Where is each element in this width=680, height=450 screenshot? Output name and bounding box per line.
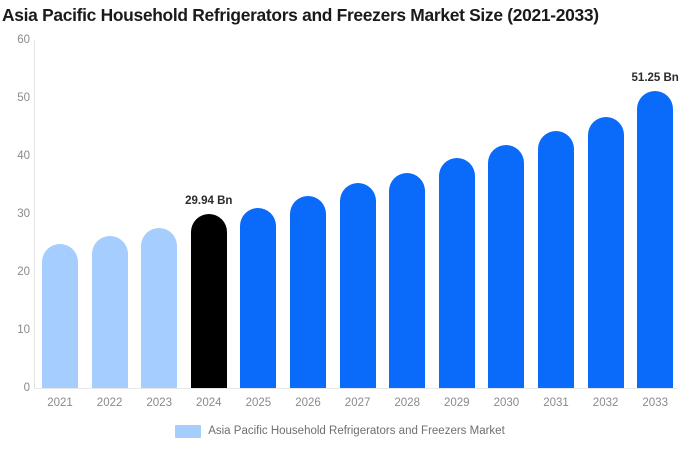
bar-2021[interactable]	[42, 244, 78, 388]
bar-2026[interactable]	[290, 196, 326, 388]
y-axis-tick-label: 0	[2, 382, 30, 394]
bar-2030[interactable]	[488, 145, 524, 388]
y-axis-tick-label: 60	[2, 34, 30, 46]
bar-slot-2031	[538, 40, 574, 388]
bar-data-label-2033: 51.25 Bn	[632, 72, 679, 85]
x-axis-line	[34, 388, 678, 389]
y-axis-tick-label: 40	[2, 150, 30, 162]
bar-slot-2027	[340, 40, 376, 388]
chart-title: Asia Pacific Household Refrigerators and…	[2, 4, 680, 26]
bar-slot-2023	[141, 40, 177, 388]
bar-slot-2025	[240, 40, 276, 388]
y-axis-tick-label: 10	[2, 324, 30, 336]
bar-slot-2029	[439, 40, 475, 388]
bar-2033[interactable]	[637, 91, 673, 388]
chart-container: Asia Pacific Household Refrigerators and…	[0, 0, 680, 450]
bar-slot-2032	[588, 40, 624, 388]
bar-slot-2030	[488, 40, 524, 388]
bar-slot-2033: 51.25 Bn	[637, 40, 673, 388]
bar-2032[interactable]	[588, 117, 624, 388]
bar-slot-2024: 29.94 Bn	[191, 40, 227, 388]
bar-2025[interactable]	[240, 208, 276, 388]
y-axis: 0102030405060	[0, 40, 30, 388]
bar-slot-2021	[42, 40, 78, 388]
bar-2023[interactable]	[141, 228, 177, 388]
chart-legend: Asia Pacific Household Refrigerators and…	[0, 424, 680, 438]
y-axis-tick-label: 20	[2, 266, 30, 278]
bar-2024[interactable]	[191, 214, 227, 388]
x-axis-tick-label-2033: 2033	[625, 396, 680, 410]
y-axis-tick-label: 50	[2, 92, 30, 104]
y-axis-tick-label: 30	[2, 208, 30, 220]
legend-item[interactable]: Asia Pacific Household Refrigerators and…	[175, 424, 505, 438]
bar-2027[interactable]	[340, 183, 376, 388]
plot-area: 29.94 Bn51.25 Bn	[34, 40, 678, 388]
bar-slot-2028	[389, 40, 425, 388]
bar-data-label-2024: 29.94 Bn	[185, 195, 232, 208]
bar-2022[interactable]	[92, 236, 128, 388]
bar-2029[interactable]	[439, 158, 475, 388]
bar-2028[interactable]	[389, 173, 425, 388]
bar-slot-2026	[290, 40, 326, 388]
legend-swatch-icon	[175, 425, 201, 438]
legend-label: Asia Pacific Household Refrigerators and…	[208, 424, 505, 438]
x-axis: 2021202220232024202520262027202820292030…	[34, 396, 678, 414]
bar-slot-2022	[92, 40, 128, 388]
bar-2031[interactable]	[538, 131, 574, 388]
